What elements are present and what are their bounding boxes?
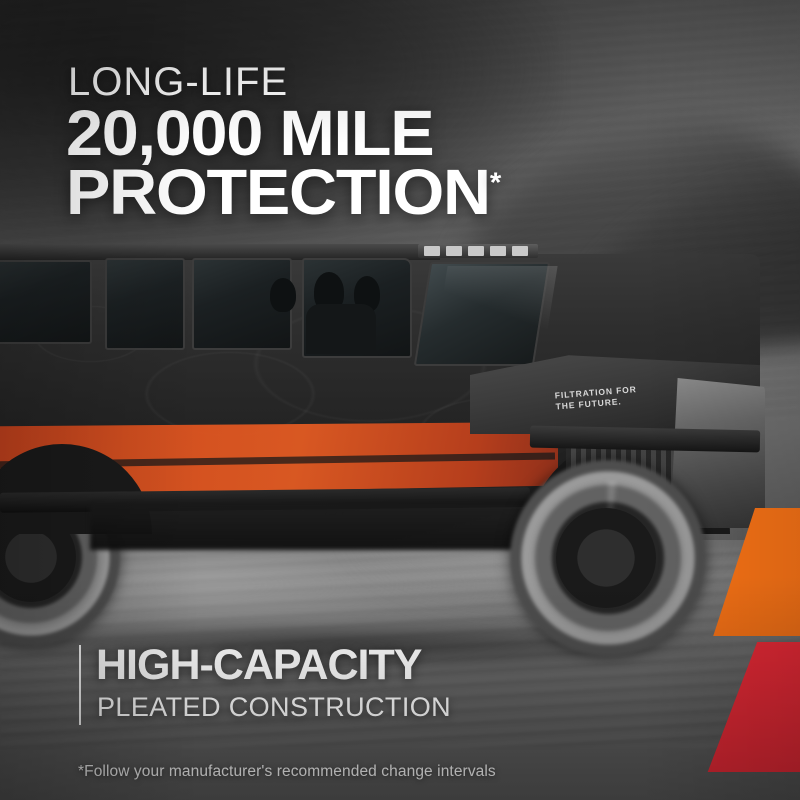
headline-line-1: 20,000 MILE [66,104,501,163]
headline-line-2-wrap: PROTECTION* [66,163,501,222]
headline-eyebrow: LONG-LIFE [68,62,288,102]
wheel-front-hub [556,508,656,608]
vehicle-jeep-wrangler: K&N® [0,232,800,652]
headline-asterisk: * [490,167,501,198]
feature-title: HIGH-CAPACITY [96,644,421,687]
feature-divider-rule [79,645,81,725]
occupant-torso [306,304,376,354]
feature-subtitle: PLEATED CONSTRUCTION [97,694,451,721]
ad-creative-canvas: K&N® FILTRATION FOR THE FUTURE. LONG- [0,0,800,800]
headline-main: 20,000 MILE PROTECTION* [66,104,501,222]
headline-line-2: PROTECTION [66,156,490,228]
vehicle-light-bar [418,244,538,258]
footnote-disclaimer: *Follow your manufacturer's recommended … [78,763,496,781]
windshield [414,262,550,366]
occupant-rear [270,278,296,312]
window-rear [0,260,92,344]
window-rear-door [105,258,185,350]
